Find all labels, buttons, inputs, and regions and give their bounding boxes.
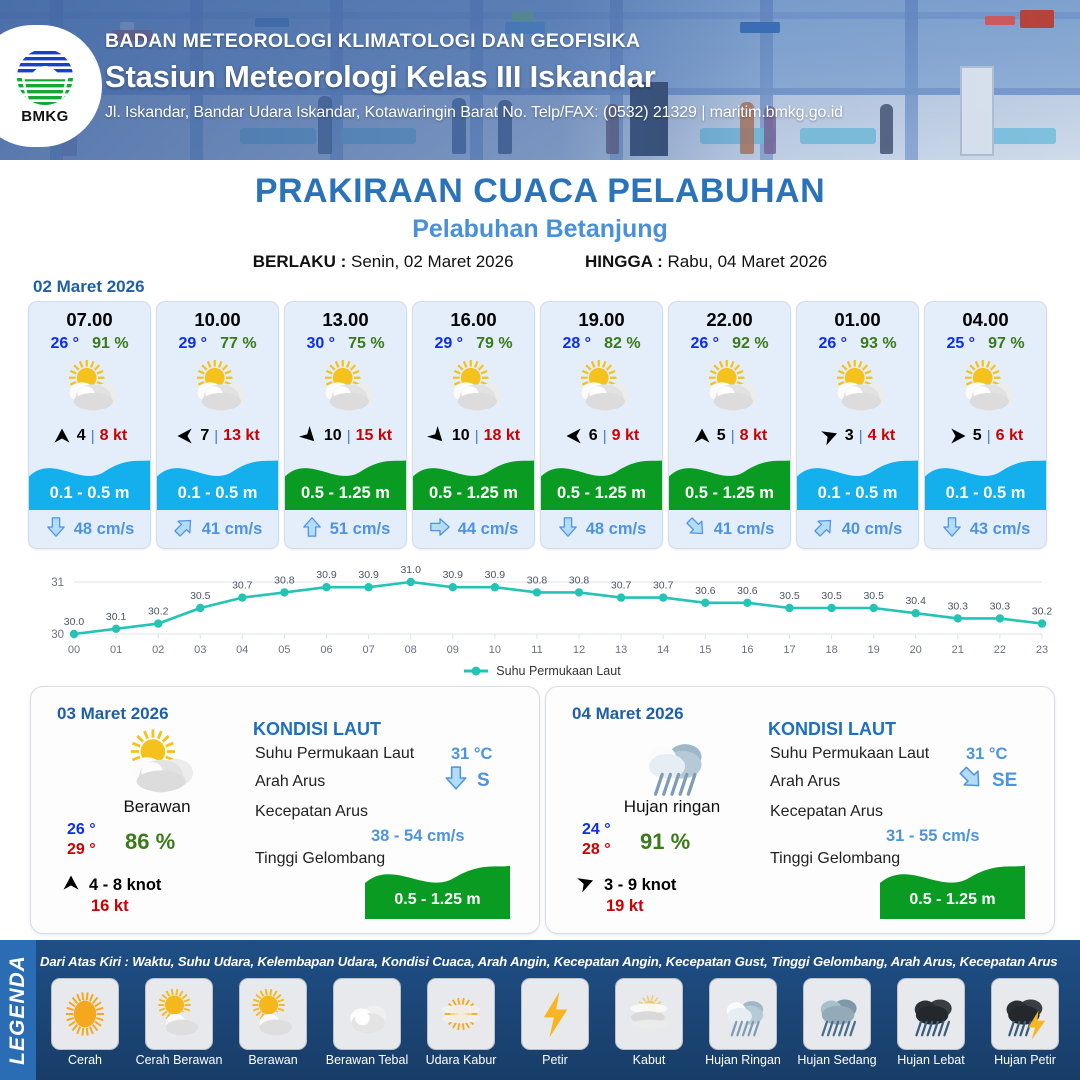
legend-item: Udara Kabur [416,978,506,1078]
card-current-row: 48 cm/s [29,514,150,544]
card-gust: 15 kt [356,427,392,445]
moderate-rain-icon [803,978,871,1050]
card-wave-height: 0.1 - 0.5 m [797,476,918,510]
card-wind-speed: 10 [452,427,470,445]
panel-humidity: 91 % [640,829,690,855]
panel-temperatures: 26 ° 29 ° [67,821,96,859]
svg-text:30.7: 30.7 [611,580,632,592]
card-temperature: 25 ° [946,335,975,353]
card-weather-icon [925,356,1046,418]
svg-text:02: 02 [152,644,164,656]
card-temp-humidity: 26 ° 91 % [29,335,150,353]
card-gust: 9 kt [612,427,640,445]
card-time: 22.00 [669,309,790,331]
svg-text:30.2: 30.2 [148,606,169,618]
card-temp-humidity: 30 ° 75 % [285,335,406,353]
legend-item-label: Hujan Ringan [705,1053,781,1067]
card-current-row: 44 cm/s [413,514,534,544]
legend-item: Petir [510,978,600,1078]
card-separator: | [731,428,735,445]
svg-text:05: 05 [278,644,290,656]
card-humidity: 97 % [988,335,1024,353]
logo-label: BMKG [21,108,68,125]
card-time: 04.00 [925,309,1046,331]
svg-text:08: 08 [405,644,417,656]
card-wave-height: 0.5 - 1.25 m [669,476,790,510]
cloudy-icon [333,978,401,1050]
card-temperature: 26 ° [50,335,79,353]
svg-text:01: 01 [110,644,122,656]
card-humidity: 92 % [732,335,768,353]
sunny-icon [51,978,119,1050]
card-temp-humidity: 29 ° 79 % [413,335,534,353]
panel-current-speed-value: 38 - 54 cm/s [371,827,465,846]
panel-sst-label: Suhu Permukaan Laut [255,745,414,763]
card-temp-humidity: 25 ° 97 % [925,335,1046,353]
svg-text:06: 06 [320,644,332,656]
card-temperature: 26 ° [690,335,719,353]
card-current-row: 41 cm/s [669,514,790,544]
svg-text:11: 11 [531,644,542,656]
svg-text:30.5: 30.5 [190,590,211,602]
card-gust: 8 kt [100,427,128,445]
svg-text:12: 12 [573,644,585,656]
svg-text:10: 10 [489,644,501,656]
svg-text:30.1: 30.1 [106,611,127,623]
panel-current-direction-arrow-icon [443,765,469,796]
panel-current-speed-value: 31 - 55 cm/s [886,827,980,846]
card-separator: | [347,428,351,445]
card-weather-icon [541,356,662,418]
bmkg-logo-icon [15,47,75,107]
legend-side-title-text: LEGENDA [6,955,30,1065]
current-direction-arrow-icon [173,516,195,543]
card-current-speed: 48 cm/s [586,520,647,539]
card-temp-humidity: 26 ° 92 % [669,335,790,353]
cloud-sun-icon [239,978,307,1050]
card-weather-icon [413,356,534,418]
panel-condition: Hujan ringan [572,797,772,817]
card-temp-humidity: 29 ° 77 % [157,335,278,353]
card-humidity: 91 % [92,335,128,353]
legend-item-label: Cerah [68,1053,102,1067]
current-direction-arrow-icon [45,516,67,543]
legend-note: Dari Atas Kiri : Waktu, Suhu Udara, Kele… [40,954,1075,969]
card-current-speed: 51 cm/s [330,520,391,539]
card-separator: | [475,428,479,445]
svg-text:30.9: 30.9 [316,569,337,581]
panel-current-dir-label: Arah Arus [770,773,840,791]
svg-text:30.9: 30.9 [443,569,464,581]
svg-text:31: 31 [51,577,64,589]
panel-date: 04 Maret 2026 [572,704,684,724]
svg-text:30.5: 30.5 [821,590,842,602]
valid-from-value: Senin, 02 Maret 2026 [351,252,514,271]
legend-item-label: Hujan Petir [994,1053,1056,1067]
current-direction-arrow-icon [301,516,323,543]
svg-text:30.3: 30.3 [948,600,969,612]
card-weather-icon [669,356,790,418]
wind-direction-arrow-icon [427,426,447,446]
svg-text:13: 13 [615,644,627,656]
card-wind-row: 5 | 6 kt [925,424,1046,448]
card-wave-height: 0.1 - 0.5 m [925,476,1046,510]
card-weather-icon [285,356,406,418]
svg-text:18: 18 [825,644,837,656]
panel-temp-max: 29 ° [67,841,96,859]
card-separator: | [859,428,863,445]
card-wind-speed: 5 [973,427,982,445]
svg-text:30.6: 30.6 [737,585,758,597]
card-wind-row: 7 | 13 kt [157,424,278,448]
forecast-card[interactable]: 19.00 28 ° 82 % 6 | 9 kt 0.5 - 1.25 m [540,301,663,549]
legend-items-row: Cerah Cerah Berawan Berawan Berawan Teba… [40,978,1076,1078]
card-separator: | [91,428,95,445]
station-address: Jl. Iskandar, Bandar Udara Iskandar, Kot… [105,104,1005,122]
card-humidity: 77 % [220,335,256,353]
validity-row: BERLAKU : Senin, 02 Maret 2026 HINGGA : … [0,252,1080,272]
current-direction-arrow-icon [813,516,835,543]
page-header: BMKG BADAN METEOROLOGI KLIMATOLOGI DAN G… [0,0,1080,160]
card-separator: | [987,428,991,445]
panel-date: 03 Maret 2026 [57,704,169,724]
wind-direction-arrow-icon [175,426,195,446]
card-humidity: 82 % [604,335,640,353]
card-wave-height: 0.5 - 1.25 m [541,476,662,510]
organization-name: BADAN METEOROLOGI KLIMATOLOGI DAN GEOFIS… [105,30,1005,53]
card-temperature: 29 ° [178,335,207,353]
legend-item: Hujan Ringan [698,978,788,1078]
legend-item: Hujan Lebat [886,978,976,1078]
panel-current-direction: SE [958,765,1017,796]
panel-gust: 16 kt [91,897,129,916]
panel-wave-value: 0.5 - 1.25 m [365,891,510,909]
card-temperature: 30 ° [306,335,335,353]
panel-current-speed-label: Kecepatan Arus [770,803,883,821]
fog-icon [615,978,683,1050]
card-current-row: 40 cm/s [797,514,918,544]
svg-text:17: 17 [783,644,795,656]
svg-text:00: 00 [68,644,80,656]
legend-item: Kabut [604,978,694,1078]
daily-forecast-panel-2: 04 Maret 2026 Hujan ringan 24 ° 28 ° 91 … [545,686,1055,934]
card-weather-icon [157,356,278,418]
forecast-card[interactable]: 01.00 26 ° 93 % 3 | 4 kt 0.1 - 0.5 m [796,301,919,549]
card-temp-humidity: 26 ° 93 % [797,335,918,353]
card-wind-row: 10 | 15 kt [285,424,406,448]
svg-text:03: 03 [194,644,206,656]
chart-legend-label: Suhu Permukaan Laut [496,664,620,678]
card-current-row: 43 cm/s [925,514,1046,544]
card-wave-height: 0.1 - 0.5 m [29,476,150,510]
panel-current-direction-value: S [477,770,490,792]
page-subtitle: Pelabuhan Betanjung [0,215,1080,244]
forecast-card[interactable]: 10.00 29 ° 77 % 7 | 13 kt 0.1 - 0.5 m [156,301,279,549]
forecast-card[interactable]: 22.00 26 ° 92 % 5 | 8 kt 0.5 - 1.25 m [668,301,791,549]
wind-direction-arrow-icon [52,426,72,446]
legend-item: Cerah Berawan [134,978,224,1078]
card-weather-icon [797,356,918,418]
card-gust: 6 kt [996,427,1024,445]
legend-item-label: Berawan Tebal [326,1053,408,1067]
wind-direction-arrow-icon [564,426,584,446]
card-wind-row: 3 | 4 kt [797,424,918,448]
svg-text:07: 07 [362,644,374,656]
wind-direction-arrow-icon [692,426,712,446]
forecast-date-label: 02 Maret 2026 [33,277,145,297]
svg-text:30.4: 30.4 [905,595,926,607]
heavy-rain-icon [897,978,965,1050]
hourly-forecast-strip: 07.00 26 ° 91 % 4 | 8 kt 0.1 - 0.5 m [28,301,1056,551]
svg-text:30.2: 30.2 [1032,606,1053,618]
panel-humidity: 86 % [125,829,175,855]
card-current-row: 51 cm/s [285,514,406,544]
svg-text:14: 14 [657,644,669,656]
svg-text:30.8: 30.8 [527,574,548,586]
panel-current-direction: S [443,765,490,796]
panel-sst-label: Suhu Permukaan Laut [770,745,929,763]
card-humidity: 93 % [860,335,896,353]
current-direction-arrow-icon [429,516,451,543]
card-wave-height: 0.5 - 1.25 m [413,476,534,510]
svg-text:30.9: 30.9 [485,569,506,581]
card-time: 16.00 [413,309,534,331]
svg-text:30.5: 30.5 [779,590,800,602]
panel-wind-direction-arrow-icon [576,873,596,898]
card-wave-height: 0.5 - 1.25 m [285,476,406,510]
panel-temperatures: 24 ° 28 ° [582,821,611,859]
svg-text:30.8: 30.8 [569,574,590,586]
card-time: 01.00 [797,309,918,331]
card-separator: | [603,428,607,445]
svg-text:16: 16 [741,644,753,656]
thunderstorm-icon [991,978,1059,1050]
lightning-icon [521,978,589,1050]
svg-text:30.9: 30.9 [358,569,379,581]
svg-text:30.7: 30.7 [653,580,674,592]
legend-item: Hujan Petir [980,978,1070,1078]
card-humidity: 79 % [476,335,512,353]
card-gust: 8 kt [740,427,768,445]
svg-text:30.7: 30.7 [232,580,253,592]
card-current-speed: 44 cm/s [458,520,519,539]
legend-item-label: Cerah Berawan [136,1053,223,1067]
panel-temp-min: 26 ° [67,821,96,839]
svg-text:19: 19 [868,644,880,656]
card-gust: 13 kt [223,427,259,445]
legend-item-label: Hujan Sedang [797,1053,876,1067]
card-temp-humidity: 28 ° 82 % [541,335,662,353]
legend-item: Berawan [228,978,318,1078]
panel-wave-band [365,857,510,919]
current-direction-arrow-icon [685,516,707,543]
panel-sst-value: 31 °C [451,745,492,764]
legend-item-label: Hujan Lebat [897,1053,964,1067]
card-current-speed: 43 cm/s [970,520,1031,539]
card-wind-speed: 10 [324,427,342,445]
legend-item-label: Udara Kabur [426,1053,497,1067]
svg-text:30.0: 30.0 [64,616,85,628]
panel-wind-direction-arrow-icon [61,873,81,898]
card-current-row: 48 cm/s [541,514,662,544]
card-current-speed: 48 cm/s [74,520,135,539]
valid-until-value: Rabu, 04 Maret 2026 [668,252,828,271]
card-current-row: 41 cm/s [157,514,278,544]
sun-cloud-icon [145,978,213,1050]
card-wind-row: 5 | 8 kt [669,424,790,448]
wind-direction-arrow-icon [948,426,968,446]
legend-side-title: LEGENDA [0,940,36,1080]
panel-condition: Berawan [57,797,257,817]
card-humidity: 75 % [348,335,384,353]
legend-item: Berawan Tebal [322,978,412,1078]
card-wave-height: 0.1 - 0.5 m [157,476,278,510]
svg-text:30.3: 30.3 [990,600,1011,612]
station-name: Stasiun Meteorologi Kelas III Iskandar [105,59,1005,95]
chart-canvas: 3031000102030405060708091011121314151617… [28,556,1056,664]
legend-item: Cerah [40,978,130,1078]
sea-surface-temperature-chart: 3031000102030405060708091011121314151617… [28,556,1056,678]
svg-text:04: 04 [236,644,248,656]
panel-current-dir-label: Arah Arus [255,773,325,791]
card-wind-speed: 5 [717,427,726,445]
svg-text:15: 15 [699,644,711,656]
valid-from-label: BERLAKU : [253,252,347,271]
haze-icon [427,978,495,1050]
card-temperature: 28 ° [562,335,591,353]
panel-wind-speed: 4 - 8 knot [89,876,161,895]
card-weather-icon [29,356,150,418]
panel-wave-band [880,857,1025,919]
daily-forecast-panel-1: 03 Maret 2026 Berawan 26 ° 29 ° 86 % 4 -… [30,686,540,934]
panel-current-direction-arrow-icon [958,765,984,796]
forecast-card[interactable]: 16.00 29 ° 79 % 10 | 18 kt 0.5 - 1.25 m [412,301,535,549]
panel-gust: 19 kt [606,897,644,916]
panel-wind-speed: 3 - 9 knot [604,876,676,895]
svg-text:23: 23 [1036,644,1048,656]
panel-temp-min: 24 ° [582,821,611,839]
card-gust: 4 kt [868,427,896,445]
panel-wind-row: 4 - 8 knot [61,873,161,898]
valid-until-label: HINGGA : [585,252,663,271]
card-wind-row: 4 | 8 kt [29,424,150,448]
card-temperature: 29 ° [434,335,463,353]
card-current-speed: 40 cm/s [842,520,903,539]
panel-current-speed-label: Kecepatan Arus [255,803,368,821]
legend-item: Hujan Sedang [792,978,882,1078]
legend-item-label: Kabut [633,1053,666,1067]
page-title: PRAKIRAAN CUACA PELABUHAN [0,172,1080,211]
svg-text:30.5: 30.5 [863,590,884,602]
panel-weather-icon [602,729,742,797]
svg-text:21: 21 [952,644,964,656]
svg-text:22: 22 [994,644,1006,656]
card-current-speed: 41 cm/s [202,520,263,539]
wind-direction-arrow-icon [820,426,840,446]
light-rain-icon [709,978,777,1050]
svg-text:30.6: 30.6 [695,585,716,597]
panel-sea-title: KONDISI LAUT [253,719,381,740]
svg-text:31.0: 31.0 [400,564,421,576]
card-time: 19.00 [541,309,662,331]
forecast-card[interactable]: 07.00 26 ° 91 % 4 | 8 kt 0.1 - 0.5 m [28,301,151,549]
panel-sea-title: KONDISI LAUT [768,719,896,740]
chart-legend-marker-icon [463,665,489,677]
panel-current-direction-value: SE [992,770,1017,792]
card-time: 07.00 [29,309,150,331]
card-temperature: 26 ° [818,335,847,353]
legend-item-label: Petir [542,1053,568,1067]
svg-text:30: 30 [51,629,64,641]
forecast-card[interactable]: 04.00 25 ° 97 % 5 | 6 kt 0.1 - 0.5 m [924,301,1047,549]
forecast-card[interactable]: 13.00 30 ° 75 % 10 | 15 kt 0.5 - 1.25 m [284,301,407,549]
card-current-speed: 41 cm/s [714,520,775,539]
svg-text:09: 09 [447,644,459,656]
card-time: 10.00 [157,309,278,331]
svg-text:30.8: 30.8 [274,574,295,586]
legend-item-label: Berawan [248,1053,297,1067]
card-wind-speed: 6 [589,427,598,445]
chart-legend: Suhu Permukaan Laut [28,664,1056,678]
card-wind-speed: 4 [77,427,86,445]
card-gust: 18 kt [484,427,520,445]
card-separator: | [214,428,218,445]
panel-temp-max: 28 ° [582,841,611,859]
current-direction-arrow-icon [557,516,579,543]
wind-direction-arrow-icon [299,426,319,446]
current-direction-arrow-icon [941,516,963,543]
panel-weather-icon [87,729,227,797]
panel-wind-row: 3 - 9 knot [576,873,676,898]
svg-text:20: 20 [910,644,922,656]
card-wind-row: 6 | 9 kt [541,424,662,448]
card-wind-speed: 3 [845,427,854,445]
card-wind-row: 10 | 18 kt [413,424,534,448]
panel-wave-value: 0.5 - 1.25 m [880,891,1025,909]
card-wind-speed: 7 [200,427,209,445]
card-time: 13.00 [285,309,406,331]
